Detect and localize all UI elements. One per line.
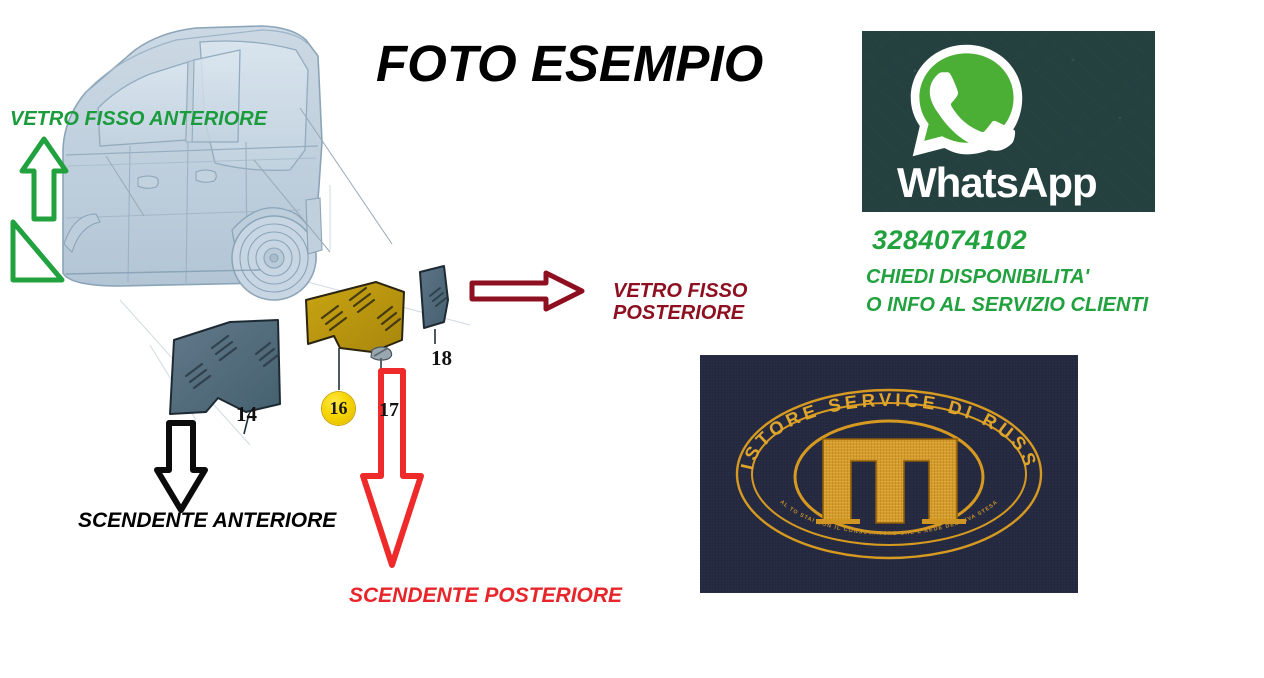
label-vetro-fisso-posteriore: VETRO FISSO POSTERIORE [613, 280, 747, 325]
part-18-quarter-fixed-glass [420, 266, 448, 344]
part-number-16-badge: 16 [322, 392, 355, 425]
part-number-14: 14 [236, 402, 257, 427]
page-title: FOTO ESEMPIO [376, 34, 763, 93]
down-arrow-red-icon [358, 366, 426, 570]
label-vetro-fisso-posteriore-line1: VETRO FISSO [613, 280, 747, 302]
part-number-17: 17 [379, 399, 399, 422]
down-arrow-black-icon [152, 418, 210, 514]
phone-number[interactable]: 3284074102 [872, 225, 1027, 256]
brand-logo-panel: MRICAMBISTORE SERVICE DI RUSSO MARCO AL … [700, 355, 1078, 593]
up-arrow-green-icon [18, 135, 70, 225]
customer-service-text: O INFO AL SERVIZIO CLIENTI [866, 294, 1148, 317]
label-vetro-fisso-anteriore: VETRO FISSO ANTERIORE [10, 108, 267, 130]
label-scendente-posteriore: SCENDENTE POSTERIORE [349, 584, 622, 608]
right-arrow-dark-red-icon [468, 269, 586, 313]
whatsapp-wordmark: WhatsApp [897, 159, 1097, 207]
mricambistore-logo: MRICAMBISTORE SERVICE DI RUSSO MARCO AL … [700, 355, 1078, 593]
label-scendente-anteriore: SCENDENTE ANTERIORE [78, 509, 336, 533]
whatsapp-phone-bubble-icon [905, 39, 1028, 162]
part-number-16: 16 [322, 392, 355, 425]
label-vetro-fisso-posteriore-line2: POSTERIORE [613, 302, 747, 324]
part-number-18: 18 [431, 346, 452, 371]
diagonal-arrow-green-icon [8, 218, 66, 286]
car-body [63, 26, 322, 300]
screenshot-canvas: FOTO ESEMPIO VETRO FISSO ANTERIORE VETRO… [0, 0, 1264, 678]
availability-text: CHIEDI DISPONIBILITA' [866, 266, 1089, 289]
whatsapp-banner: WhatsApp [862, 31, 1155, 212]
